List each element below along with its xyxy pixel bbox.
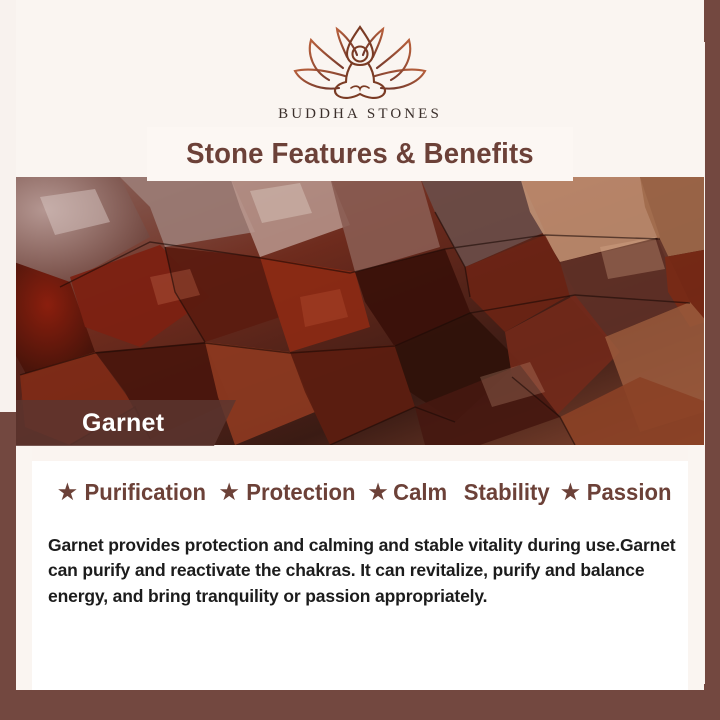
benefit-stability: Stability xyxy=(462,479,551,506)
stone-name-bar: Garnet xyxy=(16,400,236,446)
brand-wordmark: BUDDHA STONES xyxy=(278,106,442,123)
benefit-label: Passion xyxy=(587,479,672,506)
benefit-passion: ★ Passion xyxy=(561,479,673,506)
stone-description: Garnet provides protection and calming a… xyxy=(48,533,678,610)
star-icon: ★ xyxy=(220,482,239,503)
star-icon: ★ xyxy=(369,482,388,503)
brand-header: BUDDHA STONES xyxy=(16,24,704,123)
star-icon: ★ xyxy=(58,482,77,503)
stone-info-card: BUDDHA STONES xyxy=(0,0,720,720)
benefit-label: Calm xyxy=(394,479,448,506)
star-icon: ★ xyxy=(561,482,580,503)
benefit-protection: ★ Protection xyxy=(220,479,358,506)
benefits-row: ★ Purification ★ Protection ★ Calm Stabi… xyxy=(58,479,673,506)
benefit-label: Stability xyxy=(464,479,550,506)
benefit-purification: ★ Purification xyxy=(58,479,208,506)
content-panel: ★ Purification ★ Protection ★ Calm Stabi… xyxy=(32,445,688,690)
section-title-plaque: Stone Features & Benefits xyxy=(147,127,573,181)
benefit-calm: ★ Calm xyxy=(369,479,449,506)
benefit-label: Purification xyxy=(84,479,205,506)
page-surface: BUDDHA STONES xyxy=(16,0,704,690)
benefit-label: Protection xyxy=(246,479,355,506)
stone-name: Garnet xyxy=(82,409,164,438)
page-title: Stone Features & Benefits xyxy=(186,138,534,171)
lotus-meditation-logo-icon xyxy=(285,24,435,100)
panel-top-tint xyxy=(32,445,688,461)
